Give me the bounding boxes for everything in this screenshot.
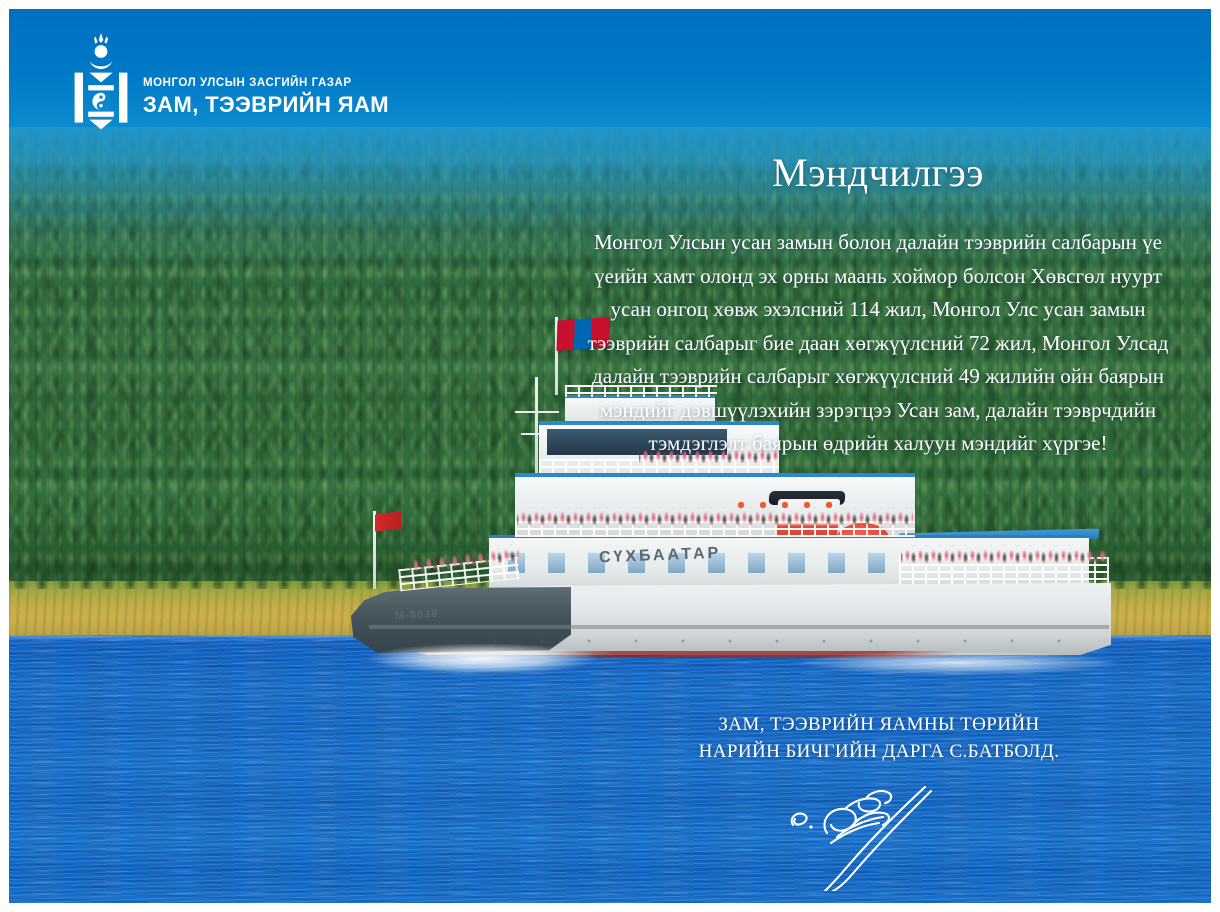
greeting-body-text: Монгол Улсын усан замын болон далайн тээ… <box>575 226 1181 461</box>
greeting-card: СҮХБААТАР M-8036 <box>0 0 1220 912</box>
signatory-title-line2: НАРИЙН БИЧГИЙН ДАРГА С.БАТБОЛД. <box>609 738 1149 765</box>
handwritten-signature-icon <box>779 781 1019 891</box>
stern-wake <box>759 645 1159 681</box>
bow-wave <box>357 639 657 683</box>
signatory-title-line1: ЗАМ, ТЭЭВРИЙН ЯАМНЫ ТӨРИЙН <box>609 711 1149 738</box>
deck-window <box>827 552 846 574</box>
bow-flag-icon <box>375 511 401 531</box>
deck-window <box>747 552 766 574</box>
ship-mast <box>535 377 538 477</box>
greeting-title: Мэндчилгээ <box>575 149 1181 196</box>
ship-registration-label: M-8036 <box>395 608 439 622</box>
ministry-logo: МОНГОЛ УЛСЫН ЗАСГИЙН ГАЗАР ЗАМ, ТЭЭВРИЙН… <box>73 31 389 133</box>
deck-window <box>787 552 806 574</box>
mast-yard-upper <box>515 411 559 413</box>
signature-block: ЗАМ, ТЭЭВРИЙН ЯАМНЫ ТӨРИЙН НАРИЙН БИЧГИЙ… <box>609 711 1149 765</box>
deck-window <box>867 552 886 574</box>
passengers-main-deck <box>517 507 913 527</box>
ministry-label: ЗАМ, ТЭЭВРИЙН ЯАМ <box>143 92 389 118</box>
greeting-block: Мэндчилгээ Монгол Улсын усан замын болон… <box>575 149 1181 461</box>
passengers-aft-deck <box>901 545 1107 567</box>
deck-window <box>547 552 566 574</box>
hull-stripe <box>369 625 1109 629</box>
government-label: МОНГОЛ УЛСЫН ЗАСГИЙН ГАЗАР <box>143 77 389 89</box>
soyombo-emblem-icon <box>73 31 129 133</box>
ministry-logo-text: МОНГОЛ УЛСЫН ЗАСГИЙН ГАЗАР ЗАМ, ТЭЭВРИЙН… <box>143 47 389 118</box>
photo-scene: СҮХБААТАР M-8036 <box>9 9 1211 903</box>
